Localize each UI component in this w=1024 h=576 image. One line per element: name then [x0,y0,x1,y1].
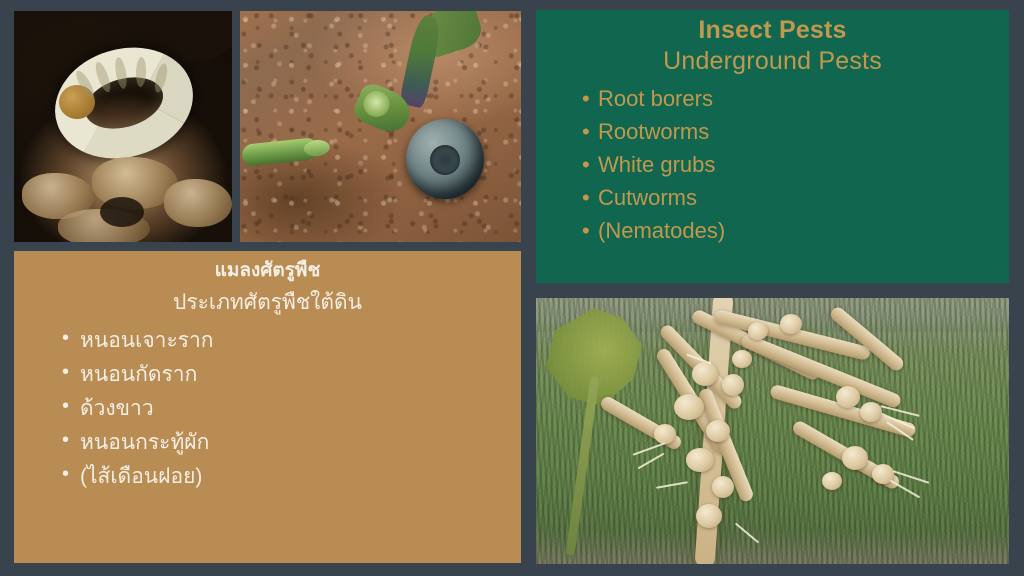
list-item: •White grubs [582,148,1009,181]
bullet-icon: • [582,82,590,115]
english-text-panel: Insect Pests Underground Pests •Root bor… [536,10,1009,283]
list-item: •หนอนกระทู้ผัก [62,426,521,460]
list-item: •Root borers [582,82,1009,115]
panel-subtitle-english: Underground Pests [536,43,1009,76]
list-item-label: หนอนกัดราก [80,363,197,386]
list-item-label: (ไส้เดือนฝอย) [80,465,202,488]
panel-subtitle-thai: ประเภทศัตรูพืชใต้ดิน [14,282,521,316]
bullet-icon: • [62,322,69,354]
list-item-label: Root borers [598,86,713,111]
panel-title-thai: แมลงศัตรูพืช [14,251,521,282]
list-item: •หนอนกัดราก [62,358,521,392]
bullet-icon: • [62,390,69,422]
photo-cutworm-with-cut-seedlings [240,11,521,242]
list-item: •Cutworms [582,181,1009,214]
list-item-label: White grubs [598,152,715,177]
bullet-icon: • [62,458,69,490]
bullet-icon: • [582,181,590,214]
bullet-icon: • [582,214,590,247]
list-item-label: Rootworms [598,119,709,144]
list-item: •Rootworms [582,115,1009,148]
photo-root-knot-nematode-galls [536,298,1009,564]
list-item-label: ด้วงขาว [80,397,154,420]
list-item-label: หนอนกระทู้ผัก [80,431,209,454]
thai-text-panel: แมลงศัตรูพืช ประเภทศัตรูพืชใต้ดิน •หนอนเ… [14,251,521,563]
list-item: •ด้วงขาว [62,392,521,426]
list-item: •(Nematodes) [582,214,1009,247]
list-item: •(ไส้เดือนฝอย) [62,460,521,494]
bullet-icon: • [582,148,590,181]
list-item-label: หนอนเจาะราก [80,329,214,352]
pest-list-english: •Root borers •Rootworms •White grubs •Cu… [536,82,1009,247]
list-item: •หนอนเจาะราก [62,324,521,358]
list-item-label: (Nematodes) [598,218,725,243]
cutworm-larva [406,119,484,199]
bullet-icon: • [62,356,69,388]
bullet-icon: • [62,424,69,456]
panel-title-english: Insect Pests [536,10,1009,43]
bullet-icon: • [582,115,590,148]
slide-canvas: Insect Pests Underground Pests •Root bor… [0,0,1024,576]
photo-white-grub-in-soil [14,11,232,242]
pest-list-thai: •หนอนเจาะราก •หนอนกัดราก •ด้วงขาว •หนอนก… [14,324,521,494]
list-item-label: Cutworms [598,185,697,210]
